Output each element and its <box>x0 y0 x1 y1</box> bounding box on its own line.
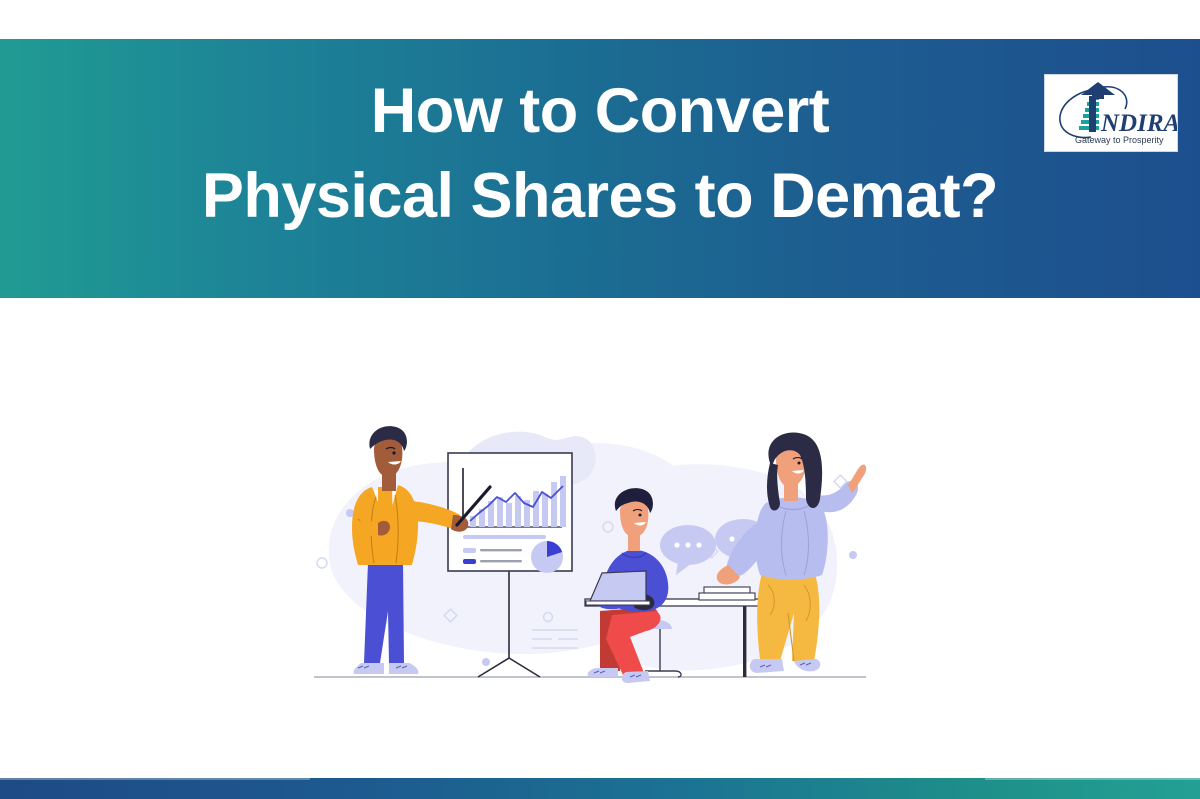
logo-icon: NDIRA Gateway to Prosperity <box>1045 75 1177 151</box>
title-line-1: How to Convert <box>371 80 830 143</box>
chart-pie <box>531 541 563 573</box>
footer-notch-left <box>0 778 310 780</box>
header-banner: How to Convert Physical Shares to Demat? <box>0 39 1200 298</box>
footer-notch-right <box>985 778 1200 780</box>
presenter-pants <box>364 563 404 663</box>
logo-tagline: Gateway to Prosperity <box>1075 135 1164 145</box>
hero-illustration <box>300 415 880 705</box>
footer-banner <box>0 778 1200 799</box>
page-title: How to Convert Physical Shares to Demat? <box>0 39 1200 265</box>
logo-wordmark: NDIRA <box>1100 110 1177 137</box>
title-line-2: Physical Shares to Demat? <box>202 165 998 228</box>
brand-logo[interactable]: NDIRA Gateway to Prosperity <box>1044 74 1178 152</box>
page-root: How to Convert Physical Shares to Demat?… <box>0 0 1200 799</box>
chart-divider-bar <box>463 535 546 539</box>
